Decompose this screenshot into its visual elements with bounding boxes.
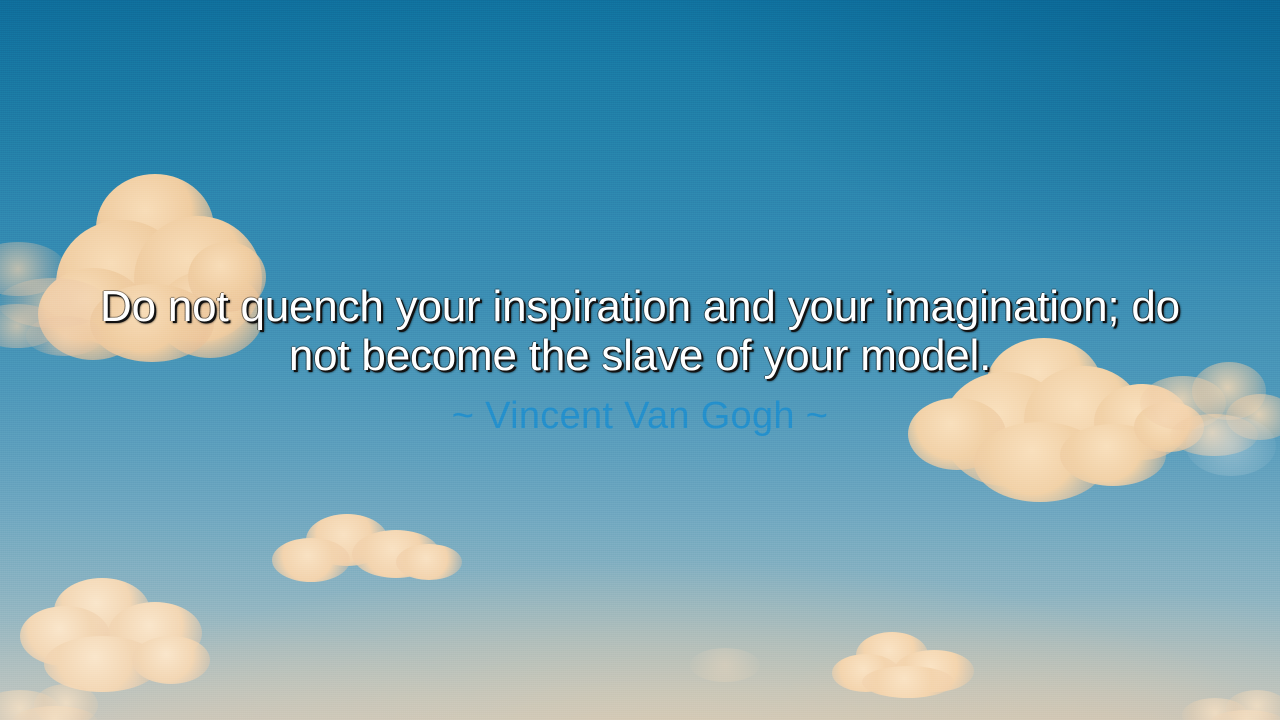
quote-author: ~ Vincent Van Gogh ~ [452,394,828,438]
quote-image-canvas: Do not quench your inspiration and your … [0,0,1280,720]
quote-text: Do not quench your inspiration and your … [95,282,1185,380]
quote-block: Do not quench your inspiration and your … [0,0,1280,720]
